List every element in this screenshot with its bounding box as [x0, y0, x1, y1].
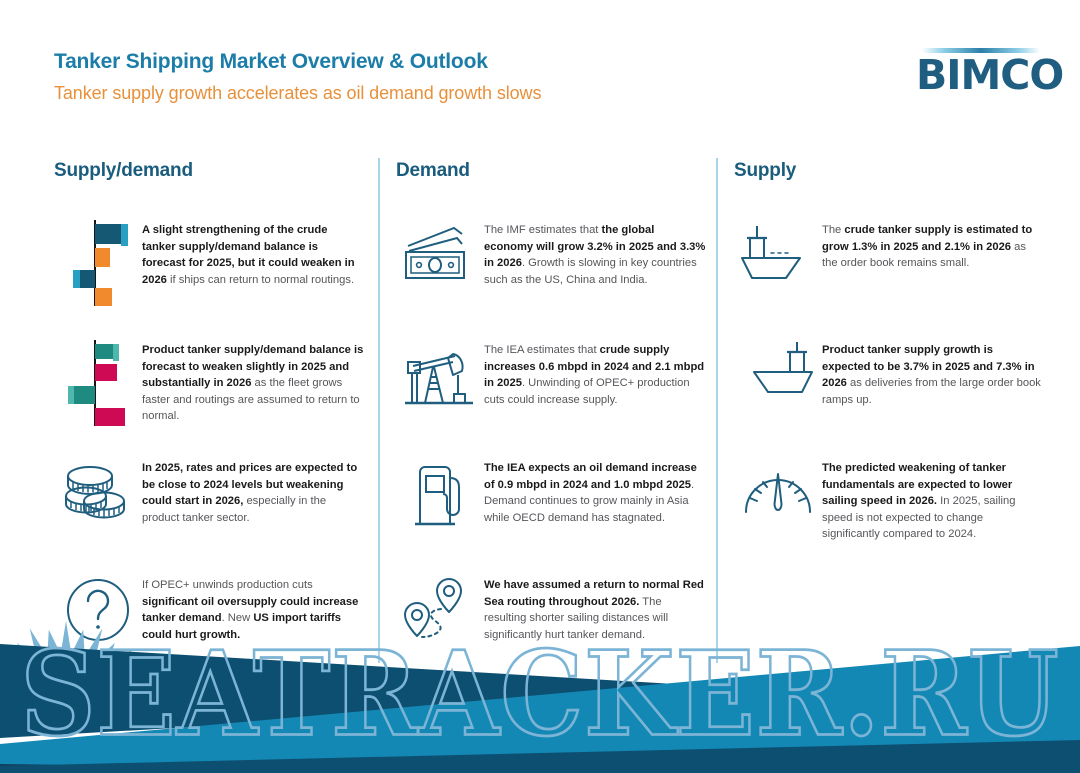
header: Tanker Shipping Market Overview & Outloo…: [54, 50, 541, 104]
list-item: The IEA expects an oil demand increase o…: [396, 458, 706, 534]
list-item: Product tanker supply growth is expected…: [734, 340, 1044, 408]
bimco-logo: BIMCO: [916, 48, 1046, 95]
column-demand: Demand The IMF estimates that the global…: [396, 160, 706, 216]
banknotes-icon: [396, 220, 484, 286]
list-item: The crude tanker supply is estimated to …: [734, 220, 1044, 286]
speed-gauge-icon: [734, 458, 822, 520]
list-item: The IMF estimates that the global econom…: [396, 220, 706, 288]
logo-wordmark: BIMCO: [916, 56, 1046, 95]
page-subtitle: Tanker supply growth accelerates as oil …: [54, 83, 541, 104]
wave-bands-graphic: [0, 588, 1080, 773]
decorative-footer: [0, 588, 1080, 773]
coins-icon: [54, 458, 142, 530]
list-item: In 2025, rates and prices are expected t…: [54, 458, 364, 530]
list-item-text: The IEA estimates that crude supply incr…: [484, 340, 706, 408]
column-supply: Supply The crude tanker supply is estima…: [734, 160, 1044, 216]
column-heading: Supply/demand: [54, 160, 364, 182]
product-tanker-ship-icon: [734, 340, 822, 406]
list-item-text: The crude tanker supply is estimated to …: [822, 220, 1044, 272]
list-item: A slight strengthening of the crude tank…: [54, 220, 364, 306]
list-item-text: The IMF estimates that the global econom…: [484, 220, 706, 288]
list-item-text: The predicted weakening of tanker fundam…: [822, 458, 1044, 543]
waterfall-chart-product-icon: [54, 340, 142, 426]
list-item-text: The IEA expects an oil demand increase o…: [484, 458, 706, 526]
column-supply-demand: Supply/demand A slight strengthening of …: [54, 160, 364, 216]
oil-pumpjack-icon: [396, 340, 484, 412]
crude-tanker-ship-icon: [734, 220, 822, 286]
list-item: The IEA estimates that crude supply incr…: [396, 340, 706, 412]
list-item: Product tanker supply/demand balance is …: [54, 340, 364, 426]
list-item-text: Product tanker supply growth is expected…: [822, 340, 1044, 408]
list-item-text: In 2025, rates and prices are expected t…: [142, 458, 364, 526]
column-heading: Demand: [396, 160, 706, 182]
fuel-pump-icon: [396, 458, 484, 534]
column-heading: Supply: [734, 160, 1044, 182]
page-title: Tanker Shipping Market Overview & Outloo…: [54, 50, 541, 74]
list-item: The predicted weakening of tanker fundam…: [734, 458, 1044, 543]
list-item-text: Product tanker supply/demand balance is …: [142, 340, 364, 425]
list-item-text: A slight strengthening of the crude tank…: [142, 220, 364, 288]
waterfall-chart-crude-icon: [54, 220, 142, 306]
